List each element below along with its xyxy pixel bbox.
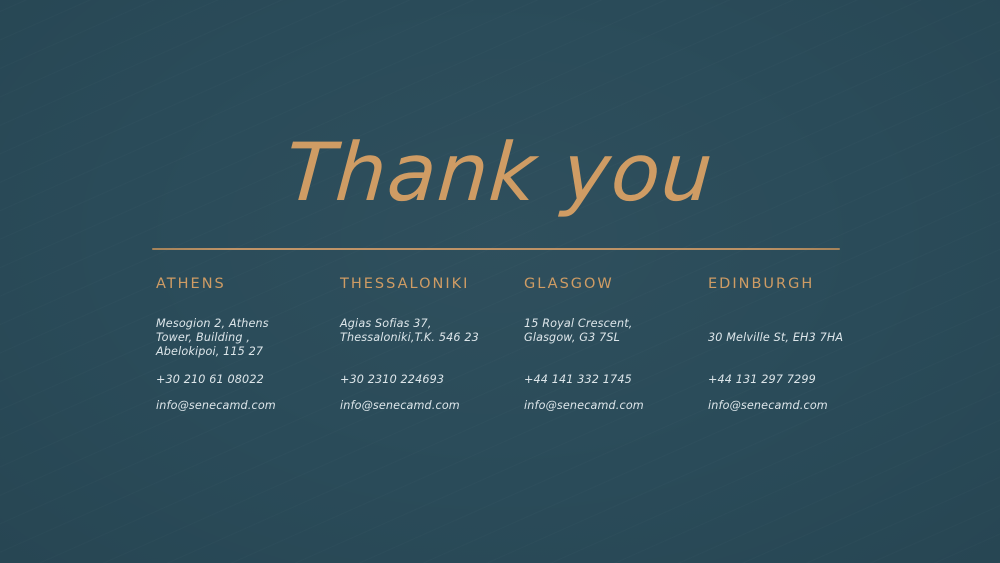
office-column-glasgow: GLASGOW 15 Royal Crescent, Glasgow, G3 7…	[524, 274, 708, 415]
office-address: 15 Royal Crescent, Glasgow, G3 7SL	[524, 317, 674, 359]
office-address: Mesogion 2, Athens Tower, Building , Abe…	[156, 317, 306, 359]
title-block: Thank you	[0, 133, 1000, 213]
office-column-edinburgh: EDINBURGH 30 Melville St, EH3 7HA +44 13…	[708, 274, 892, 415]
office-city-label: THESSALONIKI	[340, 274, 524, 294]
office-email[interactable]: info@senecamd.com	[524, 399, 708, 415]
horizontal-divider	[152, 248, 840, 250]
office-phone[interactable]: +30 210 61 08022	[156, 373, 340, 389]
office-phone[interactable]: +30 2310 224693	[340, 373, 524, 389]
page-title: Thank you	[284, 133, 717, 213]
office-phone[interactable]: +44 141 332 1745	[524, 373, 708, 389]
office-column-athens: ATHENS Mesogion 2, Athens Tower, Buildin…	[156, 274, 340, 415]
office-city-label: ATHENS	[156, 274, 340, 294]
office-column-thessaloniki: THESSALONIKI Agias Sofias 37, Thessaloni…	[340, 274, 524, 415]
office-email[interactable]: info@senecamd.com	[708, 399, 892, 415]
office-email[interactable]: info@senecamd.com	[340, 399, 524, 415]
office-address: Agias Sofias 37, Thessaloniki,T.K. 546 2…	[340, 317, 490, 359]
presentation-slide: Thank you ATHENS Mesogion 2, Athens Towe…	[0, 0, 1000, 563]
office-list: ATHENS Mesogion 2, Athens Tower, Buildin…	[156, 274, 896, 415]
office-city-label: GLASGOW	[524, 274, 708, 294]
office-phone[interactable]: +44 131 297 7299	[708, 373, 892, 389]
office-address: 30 Melville St, EH3 7HA	[708, 317, 858, 359]
office-email[interactable]: info@senecamd.com	[156, 399, 340, 415]
office-city-label: EDINBURGH	[708, 274, 892, 294]
